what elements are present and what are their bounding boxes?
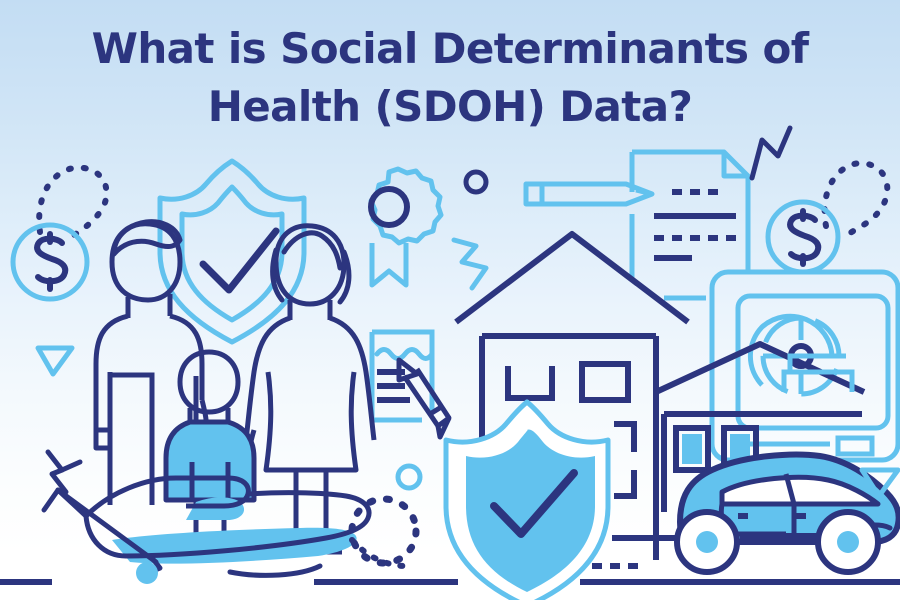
dollar-coin-right-icon <box>768 202 838 272</box>
dashed-circle-icon <box>352 499 416 563</box>
infographic-canvas: What is Social Determinants of Health (S… <box>0 0 900 600</box>
zigzag-light-blue-icon <box>454 240 486 288</box>
circle-outline-mid-icon <box>398 466 420 488</box>
lightning-bolt-right-icon <box>752 128 790 178</box>
dollar-coin-left-icon <box>13 225 87 299</box>
triangle-left-icon <box>38 348 72 374</box>
illustration-artboard <box>0 0 900 600</box>
family-mother-figure <box>246 226 374 552</box>
text-document-icon <box>632 152 748 298</box>
foreground-shield-check-icon <box>446 402 608 600</box>
lightning-bolt-left-icon <box>48 452 80 492</box>
award-ribbon-badge-icon <box>371 169 441 285</box>
small-circle-outline-icon <box>466 172 486 192</box>
